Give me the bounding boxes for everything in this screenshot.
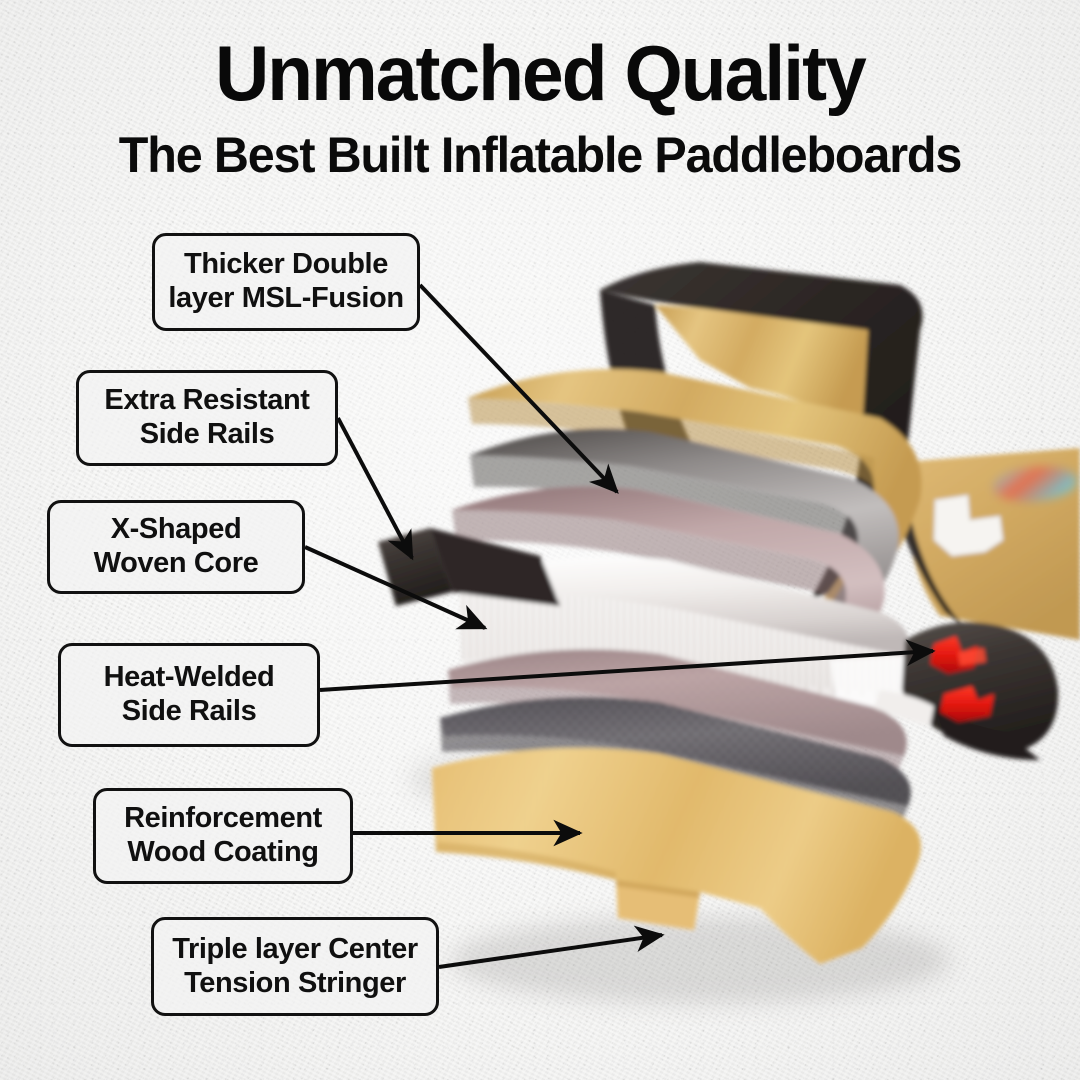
callout-extra-resistant-side-rails[interactable]: Extra Resistant Side Rails <box>76 370 338 466</box>
callout-reinforcement-wood-coating[interactable]: Reinforcement Wood Coating <box>93 788 353 884</box>
callout-label: Triple layer Center Tension Stringer <box>164 933 425 1000</box>
poster-canvas: Unmatched Quality The Best Built Inflata… <box>0 0 1080 1080</box>
callout-heat-welded-side-rails[interactable]: Heat-Welded Side Rails <box>58 643 320 747</box>
callout-label: X-Shaped Woven Core <box>86 513 267 580</box>
heat-welded-rail-group <box>902 622 1058 760</box>
heading-block: Unmatched Quality The Best Built Inflata… <box>0 0 1080 180</box>
callout-label: Reinforcement Wood Coating <box>116 802 330 869</box>
callout-label: Thicker Double layer MSL-Fusion <box>160 248 411 315</box>
callout-label: Extra Resistant Side Rails <box>96 384 317 451</box>
callout-thicker-double-layer-msl-fusion[interactable]: Thicker Double layer MSL-Fusion <box>152 233 420 331</box>
callout-x-shaped-woven-core[interactable]: X-Shaped Woven Core <box>47 500 305 594</box>
callout-triple-layer-center-tension-stringer[interactable]: Triple layer Center Tension Stringer <box>151 917 439 1016</box>
page-title: Unmatched Quality <box>22 0 1059 112</box>
page-subtitle: The Best Built Inflatable Paddleboards <box>16 112 1064 180</box>
callout-label: Heat-Welded Side Rails <box>96 661 283 728</box>
